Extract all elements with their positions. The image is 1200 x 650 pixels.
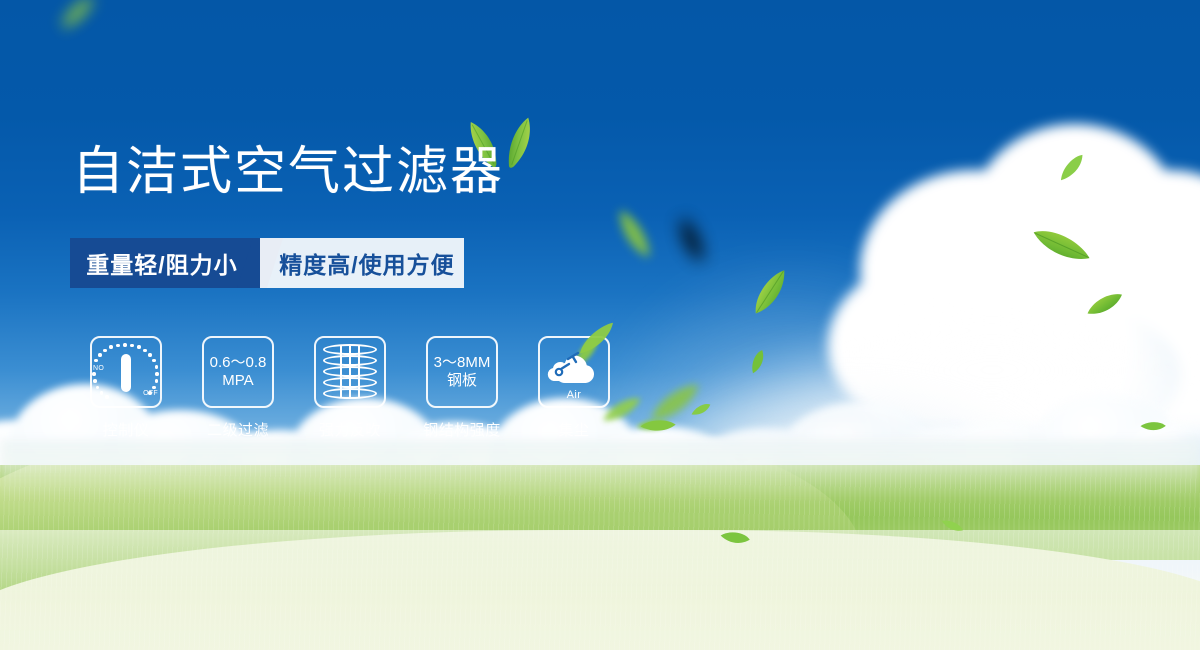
page-title: 自洁式空气过滤器 — [72, 146, 504, 198]
product-banner: 自洁式空气过滤器 重量轻/阻力小 精度高/使用方便 — [0, 0, 1200, 650]
feature-label: 强力反吹 — [319, 419, 381, 440]
feature-list: NO OFF 控制仪 0.6～0.8 MPA 二级过滤 — [70, 336, 630, 440]
subtitle-tag-secondary-label: 精度高/使用方便 — [279, 246, 454, 280]
feature-label: 钢结构强度 — [423, 419, 501, 440]
feature-item-pressure[interactable]: 0.6～0.8 MPA 二级过滤 — [182, 336, 294, 440]
feature-item-backblow[interactable]: 强力反吹 — [294, 336, 406, 440]
subtitle-tag-primary-label: 重量轻/阻力小 — [86, 246, 237, 280]
cloud-air-icon: Air — [543, 344, 605, 400]
pressure-unit: MPA — [210, 372, 267, 390]
pressure-value: 0.6～0.8 — [210, 354, 267, 372]
subtitle-tag-bar: 重量轻/阻力小 精度高/使用方便 — [70, 238, 464, 288]
gauge-label-off: OFF — [143, 390, 158, 397]
gauge-icon: NO OFF — [92, 341, 160, 403]
feature-icon-box: 0.6～0.8 MPA — [202, 336, 274, 408]
feature-icon-box: 3～8MM 钢板 — [426, 336, 498, 408]
feature-label: 控制仪 — [103, 419, 150, 440]
gauge-switch — [121, 354, 131, 392]
steel-thickness: 3～8MM — [434, 354, 491, 372]
coil-icon — [323, 344, 377, 400]
steel-icon: 3～8MM 钢板 — [434, 354, 491, 389]
gauge-label-no: NO — [93, 365, 104, 372]
feature-item-control[interactable]: NO OFF 控制仪 — [70, 336, 182, 440]
steel-material: 钢板 — [434, 372, 491, 390]
feature-label: 集尘 — [558, 419, 589, 440]
subtitle-tag-secondary: 精度高/使用方便 — [260, 238, 464, 288]
feature-item-steel[interactable]: 3～8MM 钢板 钢结构强度 — [406, 336, 518, 440]
feature-icon-box — [314, 336, 386, 408]
feature-item-dust[interactable]: Air 集尘 — [518, 336, 630, 440]
feature-label: 二级过滤 — [207, 419, 269, 440]
feature-icon-box: NO OFF — [90, 336, 162, 408]
horizon-blend — [0, 440, 1200, 500]
air-label: Air — [543, 389, 605, 401]
pressure-icon: 0.6～0.8 MPA — [210, 354, 267, 389]
subtitle-tag-primary: 重量轻/阻力小 — [70, 238, 260, 288]
